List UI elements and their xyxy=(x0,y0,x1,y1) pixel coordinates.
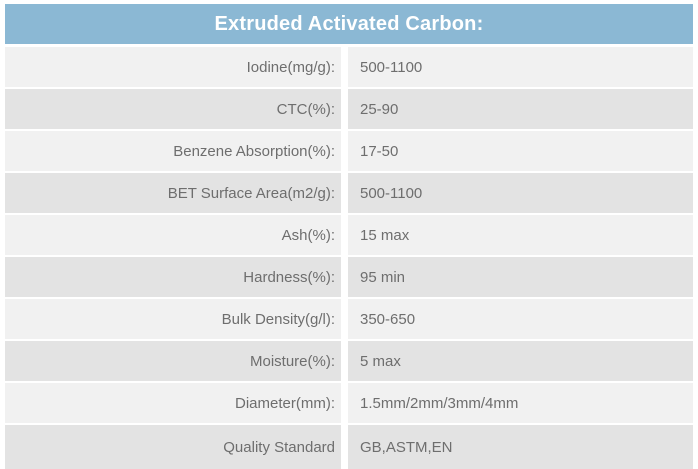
table-cell-value: 95 min xyxy=(348,257,693,297)
spec-value: 95 min xyxy=(360,270,405,285)
column-gutter xyxy=(341,173,348,213)
table-row: Bulk Density(g/l): 350-650 xyxy=(5,299,693,339)
table-cell-label: Ash(%): xyxy=(5,215,341,255)
column-gutter xyxy=(341,257,348,297)
spec-label: Moisture(%): xyxy=(250,354,335,369)
spec-label: Benzene Absorption(%): xyxy=(173,144,335,159)
table-cell-value: 25-90 xyxy=(348,89,693,129)
table-cell-label: Benzene Absorption(%): xyxy=(5,131,341,171)
table-cell-value: 500-1100 xyxy=(348,173,693,213)
table-cell-label: Bulk Density(g/l): xyxy=(5,299,341,339)
table-cell-label: Diameter(mm): xyxy=(5,383,341,423)
table-row: BET Surface Area(m2/g): 500-1100 xyxy=(5,173,693,213)
table-row: Hardness(%): 95 min xyxy=(5,257,693,297)
table-row: CTC(%): 25-90 xyxy=(5,89,693,129)
spec-label: Ash(%): xyxy=(282,228,335,243)
spec-label: Quality Standard xyxy=(223,440,335,455)
column-gutter xyxy=(341,131,348,171)
spec-value: GB,ASTM,EN xyxy=(360,440,453,455)
specification-sheet: Extruded Activated Carbon: Iodine(mg/g):… xyxy=(0,0,698,466)
spec-label: Bulk Density(g/l): xyxy=(222,312,335,327)
table-row: Benzene Absorption(%): 17-50 xyxy=(5,131,693,171)
table-cell-label: Quality Standard xyxy=(5,425,341,469)
spec-value: 500-1100 xyxy=(360,60,422,75)
column-gutter xyxy=(341,47,348,87)
table-cell-value: 17-50 xyxy=(348,131,693,171)
spec-value: 350-650 xyxy=(360,312,415,327)
column-gutter xyxy=(341,89,348,129)
column-gutter xyxy=(341,383,348,423)
spec-label: Diameter(mm): xyxy=(235,396,335,411)
column-gutter xyxy=(341,299,348,339)
table-cell-value: GB,ASTM,EN xyxy=(348,425,693,469)
spec-value: 500-1100 xyxy=(360,186,422,201)
table-cell-label: Iodine(mg/g): xyxy=(5,47,341,87)
table-row: Quality Standard GB,ASTM,EN xyxy=(5,425,693,469)
spec-label: Iodine(mg/g): xyxy=(247,60,335,75)
spec-value: 25-90 xyxy=(360,102,398,117)
table-row: Ash(%): 15 max xyxy=(5,215,693,255)
column-gutter xyxy=(341,215,348,255)
spec-value: 5 max xyxy=(360,354,401,369)
spec-value: 1.5mm/2mm/3mm/4mm xyxy=(360,396,518,411)
table-row: Diameter(mm): 1.5mm/2mm/3mm/4mm xyxy=(5,383,693,423)
table-cell-label: Moisture(%): xyxy=(5,341,341,381)
table-row: Moisture(%): 5 max xyxy=(5,341,693,381)
table-cell-label: BET Surface Area(m2/g): xyxy=(5,173,341,213)
spec-label: CTC(%): xyxy=(277,102,335,117)
table-row: Iodine(mg/g): 500-1100 xyxy=(5,47,693,87)
table-cell-label: Hardness(%): xyxy=(5,257,341,297)
spec-value: 17-50 xyxy=(360,144,398,159)
table-cell-label: CTC(%): xyxy=(5,89,341,129)
spec-value: 15 max xyxy=(360,228,409,243)
spec-label: Hardness(%): xyxy=(243,270,335,285)
page-title: Extruded Activated Carbon: xyxy=(215,14,484,34)
table-cell-value: 350-650 xyxy=(348,299,693,339)
spec-title-bar: Extruded Activated Carbon: xyxy=(5,4,693,44)
column-gutter xyxy=(341,341,348,381)
table-cell-value: 500-1100 xyxy=(348,47,693,87)
table-cell-value: 5 max xyxy=(348,341,693,381)
specification-table: Iodine(mg/g): 500-1100 CTC(%): 25-90 Ben… xyxy=(5,47,693,469)
spec-label: BET Surface Area(m2/g): xyxy=(168,186,335,201)
table-cell-value: 1.5mm/2mm/3mm/4mm xyxy=(348,383,693,423)
column-gutter xyxy=(341,425,348,469)
table-cell-value: 15 max xyxy=(348,215,693,255)
